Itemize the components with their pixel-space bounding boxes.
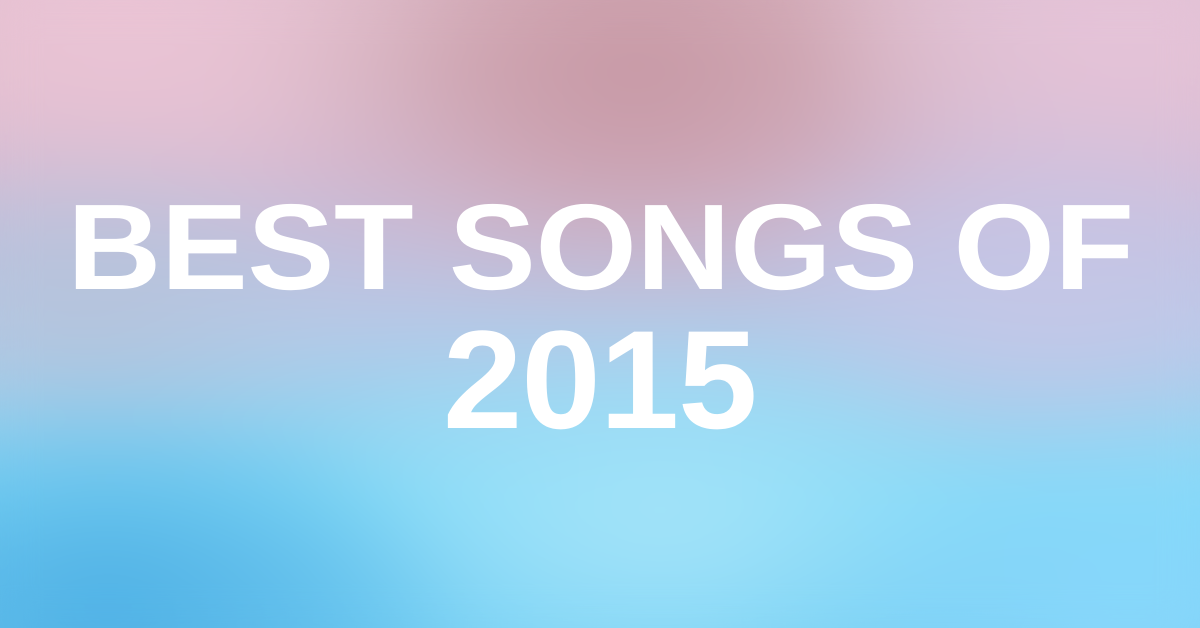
poster-canvas: BEST SONGS OF 2015: [0, 0, 1200, 628]
background-blob-skyblue: [792, 402, 1200, 628]
background-blob-blue: [0, 377, 480, 628]
